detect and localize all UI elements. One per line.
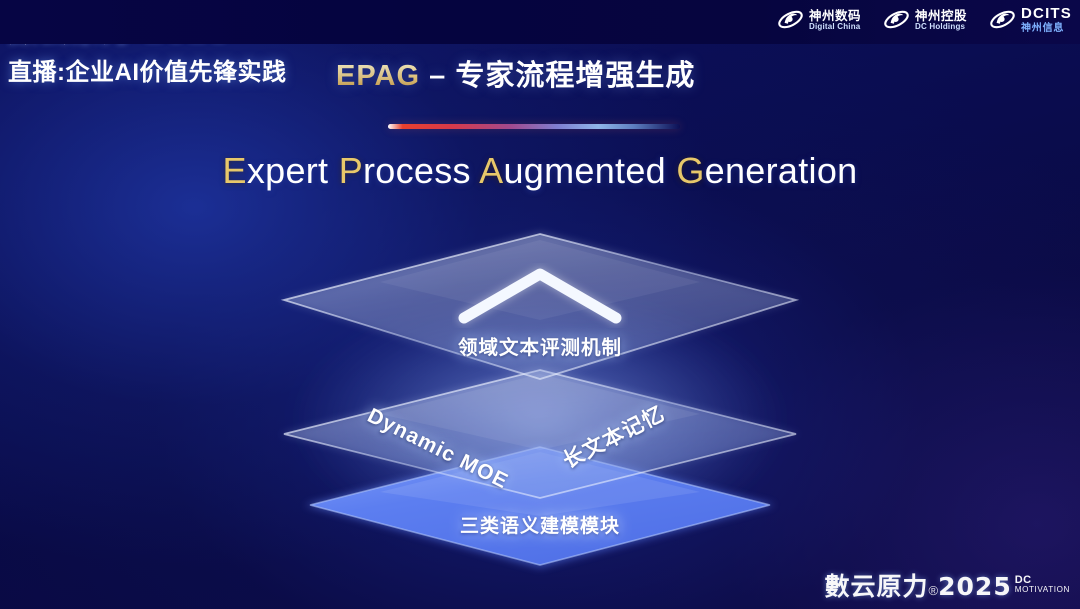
- partner-name-cn: 神州控股: [915, 9, 967, 23]
- subtitle-initial: G: [676, 150, 704, 191]
- subtitle-rest: rocess: [363, 150, 471, 191]
- title-chinese: 专家流程增强生成: [455, 60, 695, 92]
- partner-logo-dc-holdings: 神州控股 DC Holdings: [883, 6, 967, 33]
- partner-name-en: Digital China: [809, 23, 861, 32]
- swirl-logo-icon: [883, 6, 910, 33]
- chevron-up-icon: [452, 262, 628, 328]
- subtitle-word: Expert: [223, 150, 329, 191]
- subtitle-rest: eneration: [705, 150, 858, 191]
- subtitle-word: Augmented: [479, 150, 666, 191]
- partner-name-cn: DCITS: [1021, 6, 1072, 23]
- partner-logo-dcits: DCITS 神州信息: [989, 6, 1072, 34]
- subtitle-rest: ugmented: [503, 150, 666, 191]
- swirl-logo-icon: [989, 6, 1016, 33]
- live-broadcast-label: 直播:企业AI价值先锋实践: [8, 52, 287, 87]
- partner-logo-group: 神州数码 Digital China 神州控股 DC Holdings: [777, 6, 1072, 34]
- partner-text: 神州控股 DC Holdings: [915, 9, 967, 32]
- partner-name-cn: 神州数码: [809, 9, 861, 23]
- subtitle-word: Generation: [676, 150, 857, 191]
- subtitle-initial: E: [223, 150, 247, 191]
- title-divider-rule: [388, 124, 680, 129]
- partner-name-en: 神州信息: [1021, 23, 1072, 34]
- swirl-logo-icon: [777, 6, 804, 33]
- page-title: EPAG – 专家流程增强生成: [336, 52, 695, 94]
- partner-logo-digital-china: 神州数码 Digital China: [777, 6, 861, 33]
- title-acronym: EPAG: [336, 60, 420, 92]
- subtitle-initial: P: [339, 150, 363, 191]
- partner-text: 神州数码 Digital China: [809, 9, 861, 32]
- page-subtitle: Expert Process Augmented Generation: [0, 150, 1080, 192]
- partner-name-en: DC Holdings: [915, 23, 967, 32]
- slide-canvas: 數云原力®2025 DC MOTIVATION 神州数码 Digital Chi…: [0, 0, 1080, 609]
- subtitle-initial: A: [479, 150, 503, 191]
- partner-text: DCITS 神州信息: [1021, 6, 1072, 34]
- subtitle-rest: xpert: [247, 150, 329, 191]
- title-dash: –: [429, 60, 446, 92]
- subtitle-word: Process: [339, 150, 471, 191]
